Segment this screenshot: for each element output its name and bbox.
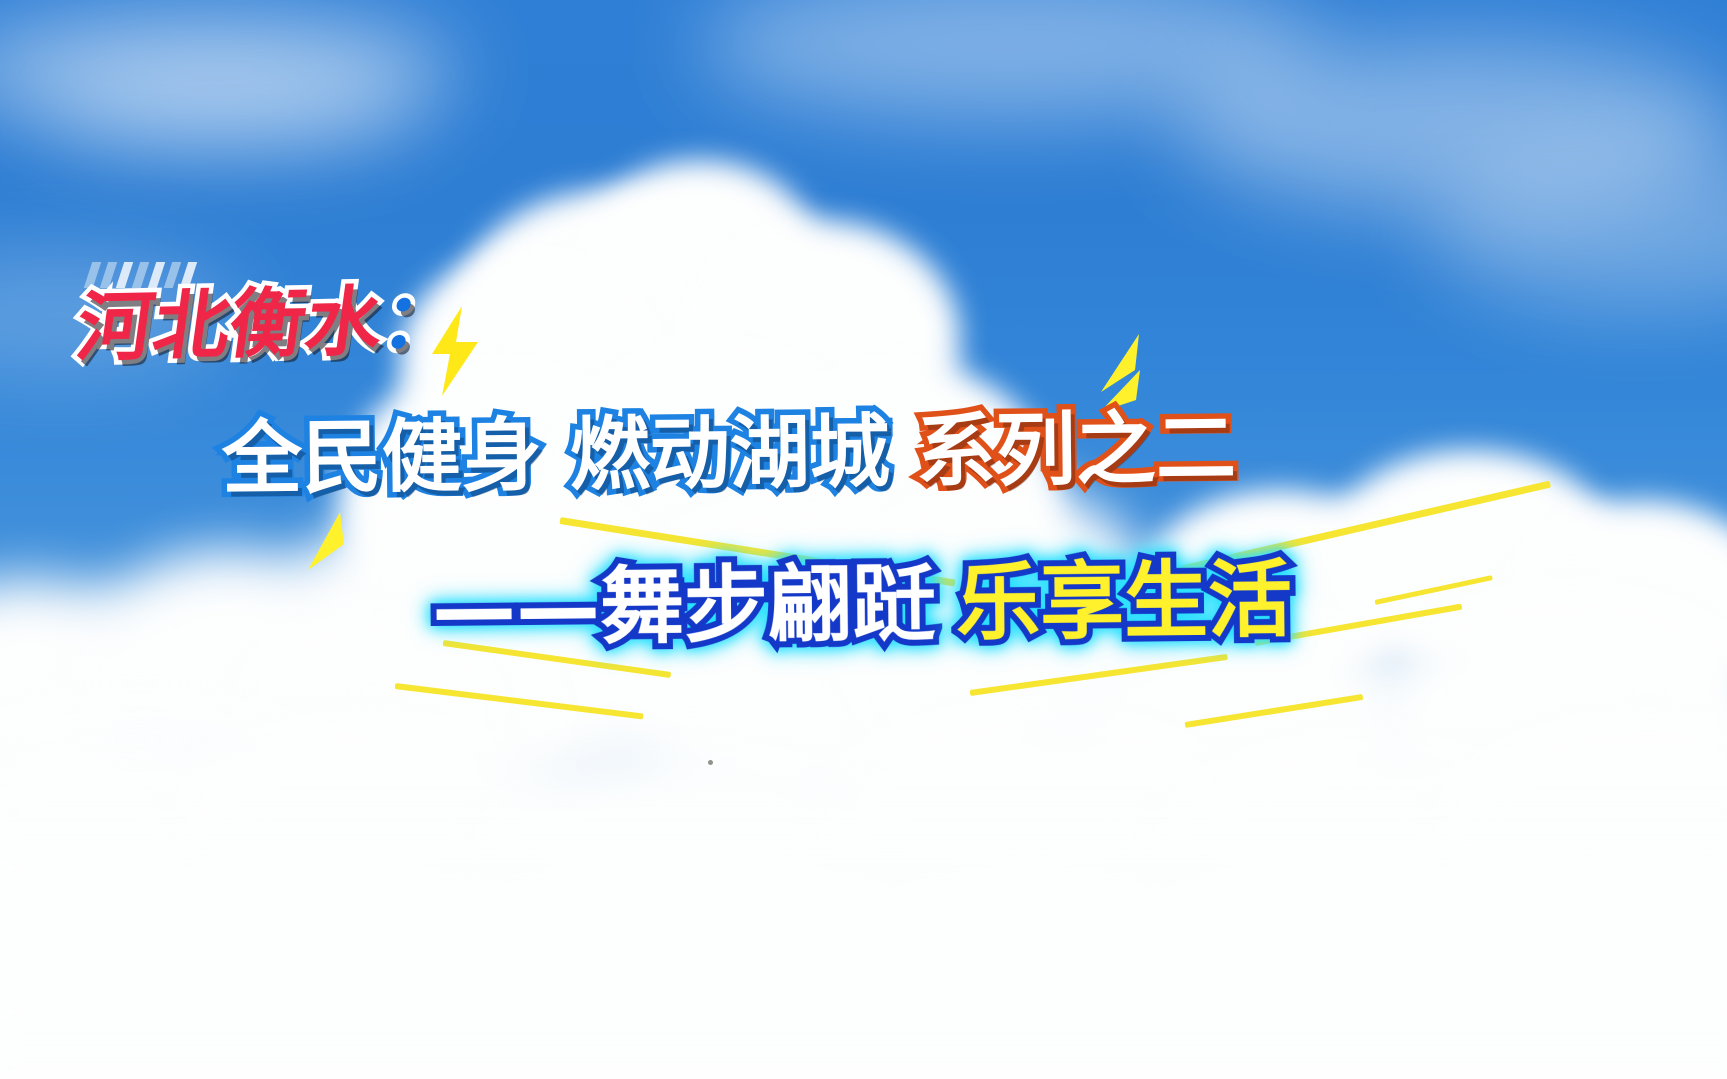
subtitle-accent: 乐享生活 xyxy=(955,550,1292,652)
title-overlay: 河北衡水： 全民健身 燃动湖城系列之二 ——舞步翩跹乐享生活 xyxy=(0,0,1727,1079)
title-line-subtitle: ——舞步翩跹乐享生活 xyxy=(432,555,1293,652)
location-colon: ： xyxy=(376,275,464,366)
subtitle-primary: ——舞步翩跹 xyxy=(432,554,937,657)
title-card-canvas: 河北衡水： 全民健身 燃动湖城系列之二 ——舞步翩跹乐享生活 xyxy=(0,0,1727,1079)
campaign-name: 全民健身 燃动湖城 xyxy=(222,405,891,505)
title-line-location: 河北衡水： xyxy=(72,282,464,366)
series-label: 系列之二 xyxy=(915,402,1236,498)
location-name: 河北衡水 xyxy=(71,277,388,372)
title-line-main: 全民健身 燃动湖城系列之二 xyxy=(222,407,1237,502)
